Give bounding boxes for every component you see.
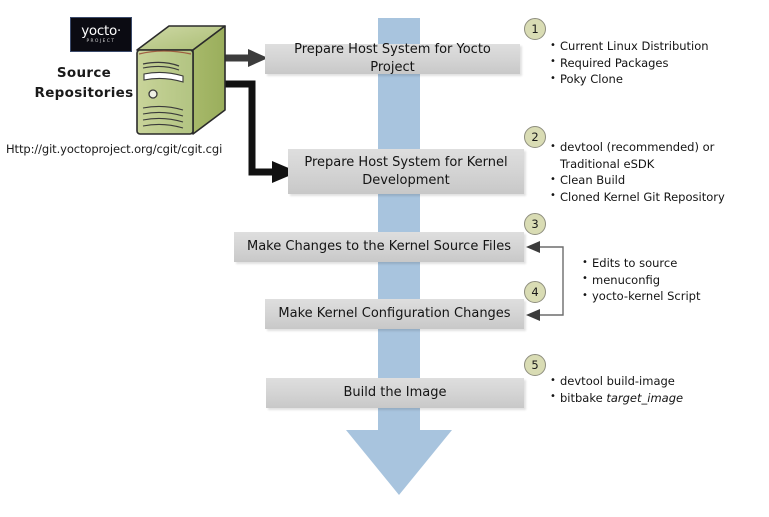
process-box-step-2[interactable]: Prepare Host System for Kernel Developme…: [288, 149, 524, 194]
process-box-step-3[interactable]: Make Changes to the Kernel Source Files: [234, 232, 524, 262]
bullet-list-step-2: devtool (recommended) or Traditional eSD…: [549, 139, 761, 205]
list-item: bitbake target_image: [549, 390, 761, 407]
list-item: devtool (recommended) or Traditional eSD…: [549, 139, 761, 172]
list-item: Edits to source: [581, 255, 761, 272]
list-item: Clean Build: [549, 172, 761, 189]
source-repository-url: Http://git.yoctoproject.org/cgit/cgit.cg…: [6, 142, 222, 156]
source-label-line-2: Repositories: [26, 83, 142, 103]
yocto-project-logo: yocto· PROJECT: [70, 17, 132, 52]
logo-word-text: yocto: [81, 23, 117, 39]
bullet-list-step-1: Current Linux Distribution Required Pack…: [549, 38, 761, 88]
list-item: yocto-kernel Script: [581, 288, 761, 305]
step-number-badge-4: 4: [524, 281, 546, 303]
bullet-list-step-5: devtool build-image bitbake target_image: [549, 373, 761, 406]
list-item: Required Packages: [549, 55, 761, 72]
step-number-badge-1: 1: [524, 18, 546, 40]
diagram-canvas: yocto· PROJECT Source Repositories Http:…: [0, 0, 769, 517]
server-icon: [133, 22, 229, 142]
process-box-step-1[interactable]: Prepare Host System for Yocto Project: [265, 44, 520, 74]
list-item: Current Linux Distribution: [549, 38, 761, 55]
logo-wordmark: yocto·: [81, 25, 121, 38]
step-number-badge-5: 5: [524, 354, 546, 376]
step-number-badge-3: 3: [524, 213, 546, 235]
process-box-step-4[interactable]: Make Kernel Configuration Changes: [265, 299, 524, 329]
step-number-badge-2: 2: [524, 126, 546, 148]
logo-dot: ·: [117, 24, 121, 39]
bitbake-command-prefix: bitbake: [560, 391, 606, 405]
flow-arrow-background: [330, 18, 480, 513]
list-item: devtool build-image: [549, 373, 761, 390]
process-box-step-5[interactable]: Build the Image: [266, 378, 524, 408]
list-item: Poky Clone: [549, 71, 761, 88]
list-item: menuconfig: [581, 272, 761, 289]
source-repositories-label: Source Repositories: [26, 63, 142, 103]
bitbake-target-image-placeholder: target_image: [606, 391, 683, 405]
bullet-list-steps-3-4: Edits to source menuconfig yocto-kernel …: [581, 255, 761, 305]
list-item: Cloned Kernel Git Repository: [549, 189, 761, 206]
logo-subtitle: PROJECT: [86, 39, 115, 45]
source-label-line-1: Source: [26, 63, 142, 83]
